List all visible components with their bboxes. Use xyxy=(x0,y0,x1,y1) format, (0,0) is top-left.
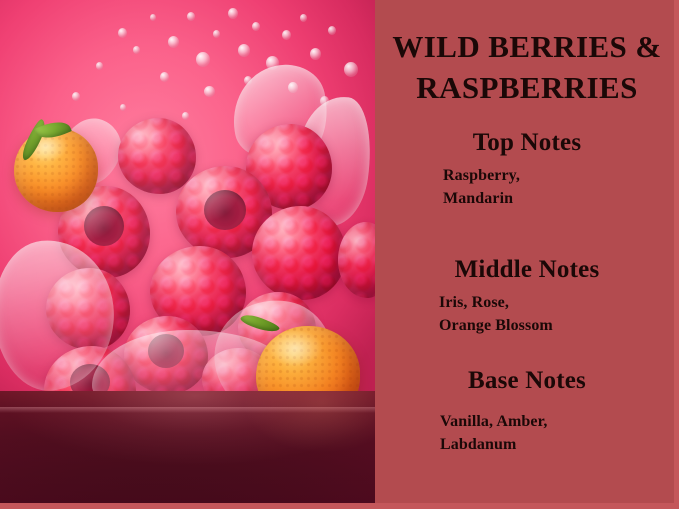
right-frame-border xyxy=(674,0,679,509)
title-line-1: WILD BERRIES & xyxy=(392,29,661,64)
section-heading-base-notes: Base Notes xyxy=(375,366,679,396)
note-line: Raspberry, xyxy=(443,164,665,187)
photo-vignette xyxy=(0,0,375,509)
section-heading-middle-notes: Middle Notes xyxy=(375,255,679,285)
section-top-notes: Top Notes Raspberry, Mandarin xyxy=(375,128,679,210)
product-photo xyxy=(0,0,375,509)
infographic-canvas: WILD BERRIES & RASPBERRIES Top Notes Ras… xyxy=(0,0,679,509)
title-line-2: RASPBERRIES xyxy=(416,70,637,105)
note-line: Vanilla, Amber, xyxy=(440,410,665,433)
note-line: Labdanum xyxy=(440,433,665,456)
section-body-top-notes: Raspberry, Mandarin xyxy=(375,164,679,210)
bottom-frame-border xyxy=(0,503,679,509)
note-line: Iris, Rose, xyxy=(439,291,665,314)
section-body-middle-notes: Iris, Rose, Orange Blossom xyxy=(375,291,679,337)
note-line: Orange Blossom xyxy=(439,314,665,337)
section-middle-notes: Middle Notes Iris, Rose, Orange Blossom xyxy=(375,255,679,337)
note-line: Mandarin xyxy=(443,187,665,210)
section-body-base-notes: Vanilla, Amber, Labdanum xyxy=(375,410,679,456)
notes-panel: WILD BERRIES & RASPBERRIES Top Notes Ras… xyxy=(375,0,679,509)
section-heading-top-notes: Top Notes xyxy=(375,128,679,158)
page-title: WILD BERRIES & RASPBERRIES xyxy=(375,26,679,108)
section-base-notes: Base Notes Vanilla, Amber, Labdanum xyxy=(375,366,679,456)
